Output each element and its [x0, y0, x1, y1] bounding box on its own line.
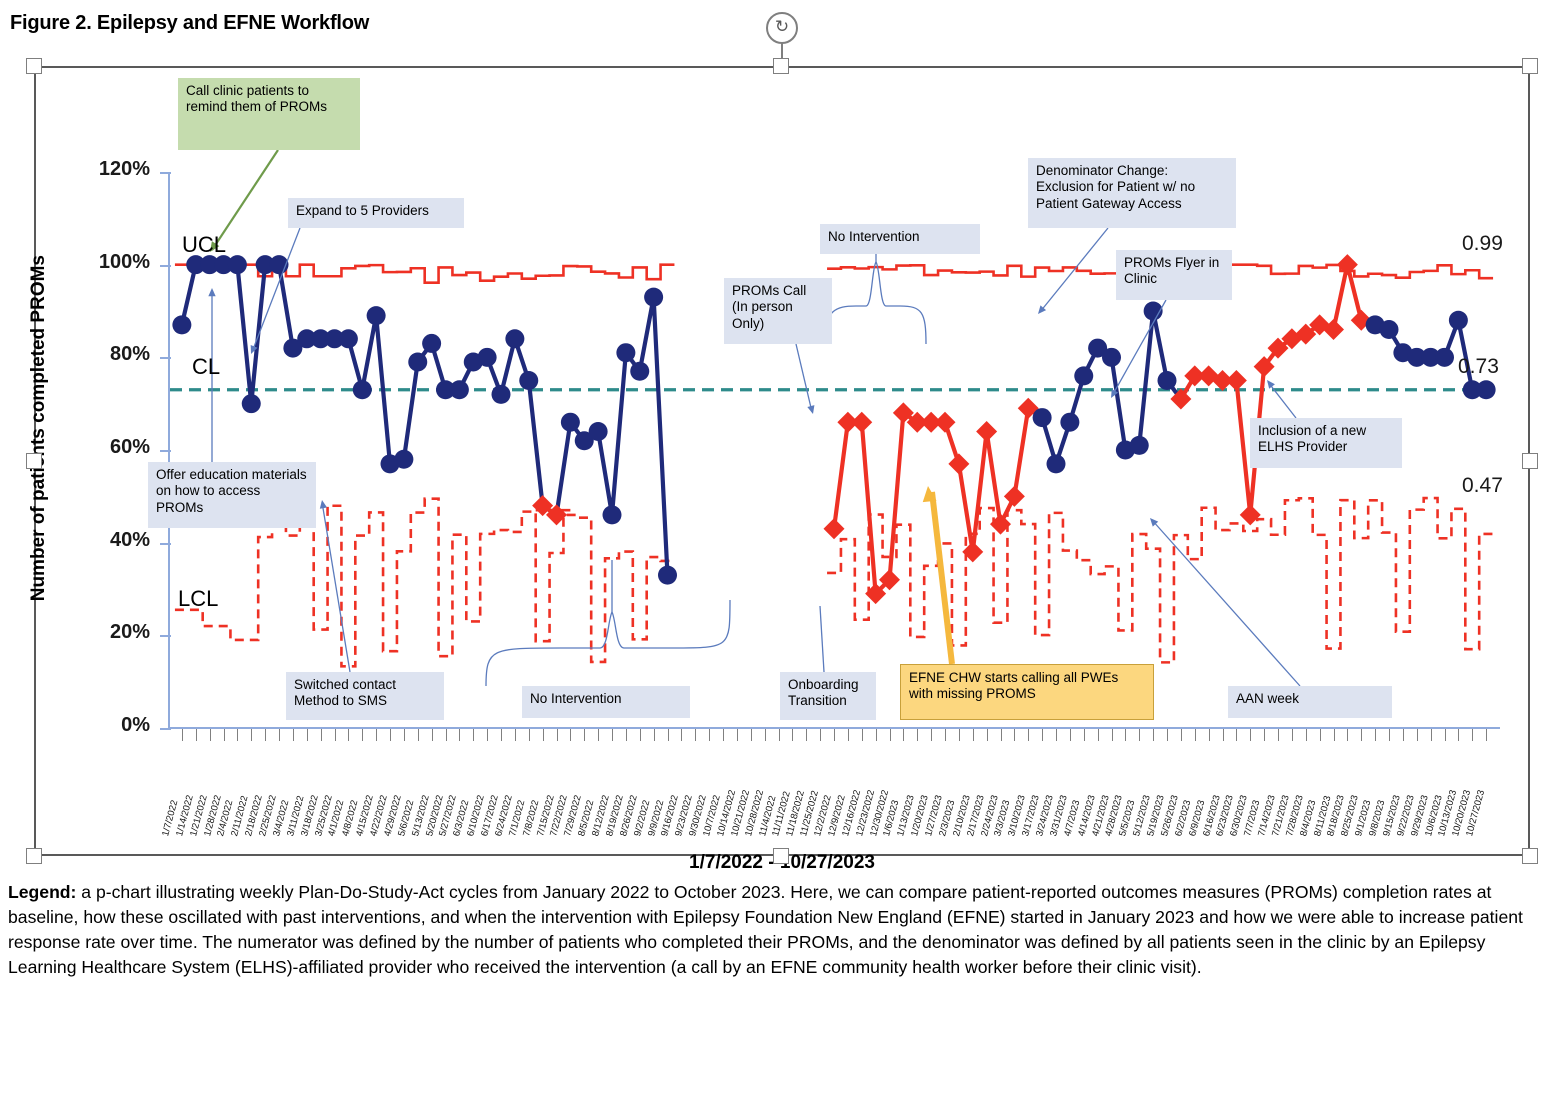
data-point-circle	[1158, 371, 1177, 390]
annotation-proms-flyer-in-clinic[interactable]: PROMs Flyer in Clinic	[1116, 250, 1232, 300]
rotate-icon[interactable]: ↻	[766, 12, 798, 44]
figure-legend: Legend: a p-chart illustrating weekly Pl…	[8, 880, 1556, 980]
data-point-circle	[505, 329, 524, 348]
data-point-circle	[561, 413, 580, 432]
lcl-value-label: 0.47	[1462, 474, 1503, 498]
annotation-text: Expand to 5 Providers	[296, 203, 429, 218]
data-point-circle	[367, 306, 386, 325]
ucl-value-label: 0.99	[1462, 232, 1503, 256]
data-point-circle	[616, 343, 635, 362]
annotation-text: Denominator Change: Exclusion for Patien…	[1036, 163, 1195, 211]
annotation-denominator-change[interactable]: Denominator Change: Exclusion for Patien…	[1028, 158, 1236, 228]
annotation-no-intervention-lower[interactable]: No Intervention	[522, 686, 690, 718]
data-point-circle	[1380, 320, 1399, 339]
data-point-circle	[478, 348, 497, 367]
cl-inline-label: CL	[192, 354, 220, 380]
data-point-circle	[603, 505, 622, 524]
data-point-diamond	[935, 412, 956, 433]
annotation-text: Inclusion of a new ELHS Provider	[1258, 423, 1366, 454]
data-point-circle	[630, 362, 649, 381]
annotation-no-intervention-upper[interactable]: No Intervention	[820, 224, 980, 254]
data-point-diamond	[824, 518, 845, 539]
annotation-inclusion-new-provider[interactable]: Inclusion of a new ELHS Provider	[1250, 418, 1402, 468]
annotation-text: AAN week	[1236, 691, 1299, 706]
annotation-switched-contact-sms[interactable]: Switched contact Method to SMS	[286, 672, 444, 720]
data-point-circle	[492, 385, 511, 404]
annotation-text: Switched contact Method to SMS	[294, 677, 396, 708]
annotation-aan-week[interactable]: AAN week	[1228, 686, 1392, 718]
data-point-circle	[450, 380, 469, 399]
annotation-text: EFNE CHW starts calling all PWEs with mi…	[909, 670, 1118, 701]
data-point-diamond	[851, 412, 872, 433]
data-point-circle	[242, 394, 261, 413]
resize-handle-bottom-center[interactable]	[773, 848, 789, 864]
data-point-circle	[1102, 348, 1121, 367]
cl-value-label: 0.73	[1458, 355, 1499, 379]
annotation-efne-chw-calling[interactable]: EFNE CHW starts calling all PWEs with mi…	[900, 664, 1154, 720]
data-point-circle	[1130, 436, 1149, 455]
data-point-circle	[422, 334, 441, 353]
data-point-circle	[1047, 454, 1066, 473]
resize-handle-top-center[interactable]	[773, 58, 789, 74]
data-point-circle	[519, 371, 538, 390]
annotation-call-clinic-patients[interactable]: Call clinic patients to remind them of P…	[178, 78, 360, 150]
resize-handle-middle-left[interactable]	[26, 453, 42, 469]
data-point-diamond	[1240, 504, 1261, 525]
data-point-circle	[353, 380, 372, 399]
data-point-diamond	[1226, 370, 1247, 391]
annotation-text: PROMs Flyer in Clinic	[1124, 255, 1219, 286]
data-point-circle	[644, 288, 663, 307]
ucl-inline-label: UCL	[182, 232, 226, 258]
annotation-text: Onboarding Transition	[788, 677, 859, 708]
annotation-text: PROMs Call (In person Only)	[732, 283, 806, 331]
data-point-circle	[394, 450, 413, 469]
data-point-circle	[1435, 348, 1454, 367]
annotation-text: Offer education materials on how to acce…	[156, 467, 307, 515]
data-point-circle	[1060, 413, 1079, 432]
data-point-circle	[1033, 408, 1052, 427]
data-point-circle	[1449, 311, 1468, 330]
annotation-text: No Intervention	[828, 229, 920, 244]
legend-label: Legend:	[8, 882, 76, 902]
data-point-diamond	[976, 421, 997, 442]
resize-handle-bottom-right[interactable]	[1522, 848, 1538, 864]
resize-handle-top-right[interactable]	[1522, 58, 1538, 74]
lcl-inline-label: LCL	[178, 586, 218, 612]
data-point-circle	[408, 352, 427, 371]
data-point-circle	[228, 255, 247, 274]
annotation-offer-education-materials[interactable]: Offer education materials on how to acce…	[148, 462, 316, 528]
annotation-expand-5-providers[interactable]: Expand to 5 Providers	[288, 198, 464, 228]
annotation-text: No Intervention	[530, 691, 622, 706]
annotation-proms-call-in-person[interactable]: PROMs Call (In person Only)	[724, 278, 832, 344]
data-point-circle	[1477, 380, 1496, 399]
data-point-diamond	[948, 453, 969, 474]
data-point-circle	[1074, 366, 1093, 385]
annotation-text: Call clinic patients to remind them of P…	[186, 83, 327, 114]
data-point-diamond	[1004, 486, 1025, 507]
data-point-circle	[172, 315, 191, 334]
data-point-circle	[658, 566, 677, 585]
resize-handle-middle-right[interactable]	[1522, 453, 1538, 469]
data-point-circle	[339, 329, 358, 348]
legend-body: a p-chart illustrating weekly Plan-Do-St…	[8, 882, 1523, 977]
resize-handle-top-left[interactable]	[26, 58, 42, 74]
resize-handle-bottom-left[interactable]	[26, 848, 42, 864]
data-point-circle	[589, 422, 608, 441]
annotation-onboarding-transition[interactable]: Onboarding Transition	[780, 672, 876, 720]
